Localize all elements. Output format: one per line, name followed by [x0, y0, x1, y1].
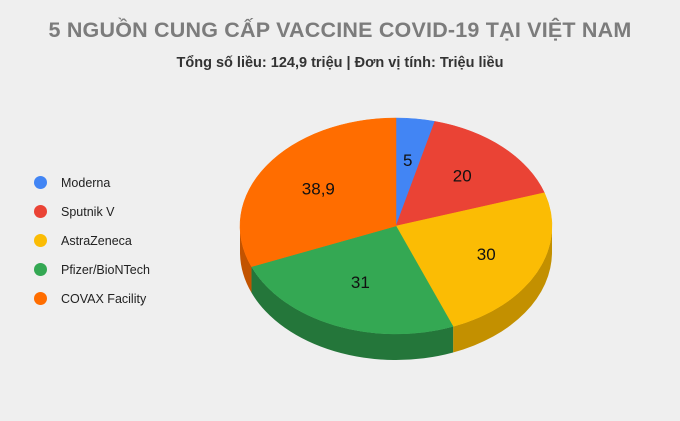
pie-top-group — [240, 118, 552, 334]
legend-item-label: AstraZeneca — [61, 234, 132, 248]
legend-color-swatch-icon — [34, 263, 47, 276]
legend-item[interactable]: AstraZeneca — [34, 226, 150, 255]
legend-item[interactable]: COVAX Facility — [34, 284, 150, 313]
pie-plot-area: 520303138,9 — [236, 108, 576, 373]
pie-slice-value-label-astrazeneca: 30 — [477, 245, 496, 264]
pie-slice-value-label-pfizer-biontech: 31 — [351, 273, 370, 292]
legend-color-swatch-icon — [34, 205, 47, 218]
chart-legend: ModernaSputnik VAstraZenecaPfizer/BioNTe… — [34, 168, 150, 313]
legend-item-label: COVAX Facility — [61, 292, 146, 306]
pie-svg: 520303138,9 — [236, 108, 576, 373]
pie-slice-value-label-sputnik-v: 20 — [453, 167, 472, 186]
pie-chart-figure: 5 NGUỒN CUNG CẤP VACCINE COVID-19 TẠI VI… — [0, 0, 680, 421]
legend-color-swatch-icon — [34, 292, 47, 305]
legend-item-label: Pfizer/BioNTech — [61, 263, 150, 277]
legend-color-swatch-icon — [34, 176, 47, 189]
chart-subtitle: Tổng số liều: 124,9 triệu | Đơn vị tính:… — [0, 55, 680, 71]
legend-item-label: Moderna — [61, 176, 110, 190]
legend-item-label: Sputnik V — [61, 205, 115, 219]
legend-item[interactable]: Pfizer/BioNTech — [34, 255, 150, 284]
pie-slice-value-label-covax-facility: 38,9 — [302, 179, 335, 198]
legend-color-swatch-icon — [34, 234, 47, 247]
chart-title: 5 NGUỒN CUNG CẤP VACCINE COVID-19 TẠI VI… — [0, 18, 680, 43]
pie-slice-value-label-moderna: 5 — [403, 151, 412, 170]
legend-item[interactable]: Moderna — [34, 168, 150, 197]
legend-item[interactable]: Sputnik V — [34, 197, 150, 226]
